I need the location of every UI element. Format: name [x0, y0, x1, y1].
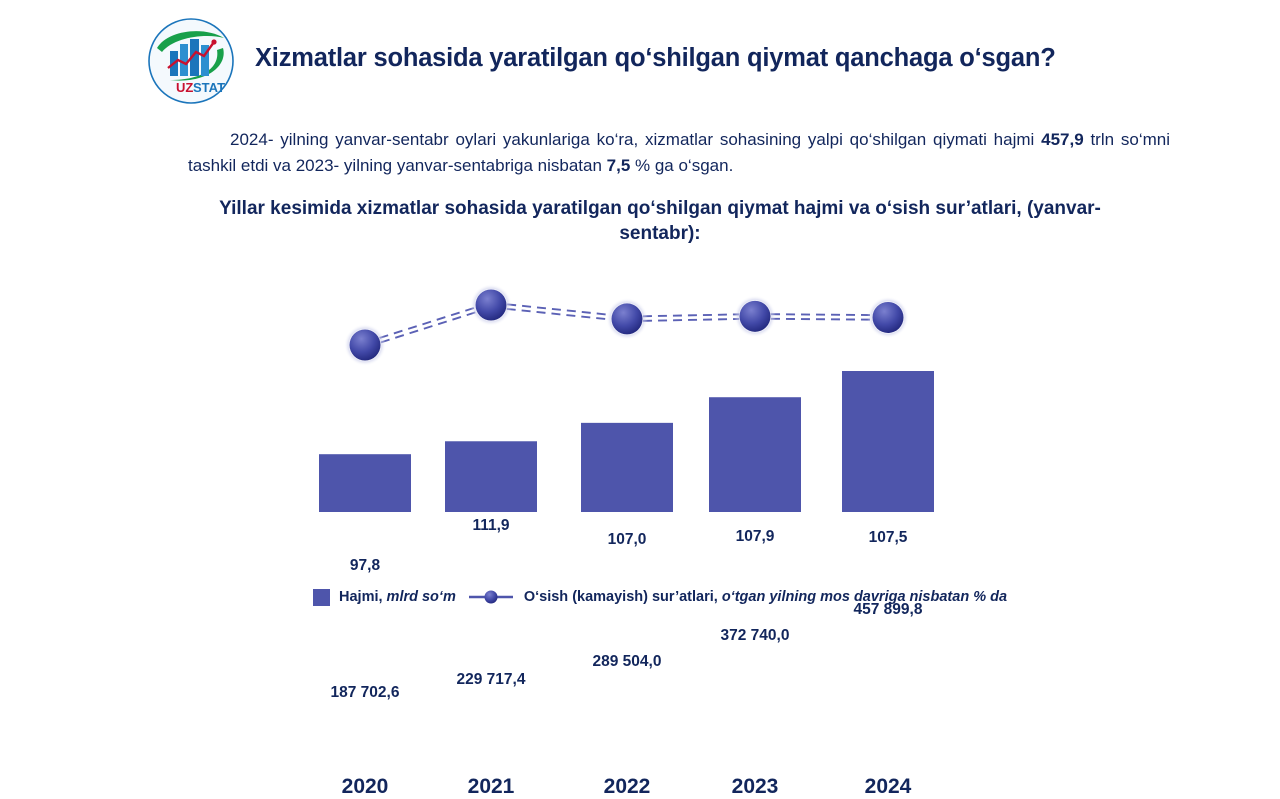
legend-bar-label: Hajmi, mlrd so‘m — [339, 589, 456, 605]
line-segment-2020-2021 — [380, 308, 476, 338]
line-segment-2022-2023 — [643, 319, 739, 321]
line-markers-group — [344, 284, 909, 366]
line-value-label-2022: 107,0 — [608, 531, 647, 549]
line-segment-2020-2021 — [381, 312, 477, 342]
category-label-2023: 2023 — [732, 775, 779, 799]
line-segment-2023-2024 — [771, 319, 872, 320]
line-value-label-2020: 97,8 — [350, 557, 380, 575]
line-value-label-2023: 107,9 — [736, 528, 775, 546]
chart-graphic — [0, 255, 1280, 625]
intro-value-volume: 457,9 — [1041, 130, 1084, 149]
bar-value-label-2023: 372 740,0 — [721, 627, 790, 645]
logo-bar-2 — [180, 44, 188, 76]
legend-line-swatch — [469, 588, 513, 606]
category-label-2020: 2020 — [342, 775, 389, 799]
legend-line-label: O‘sish (kamayish) sur’atlari, o‘tgan yil… — [524, 589, 1007, 605]
intro-paragraph: 2024- yilning yanvar-sentabr oylari yaku… — [188, 127, 1170, 179]
line-segment-2023-2024 — [771, 314, 872, 315]
legend-bar-swatch — [313, 589, 330, 606]
line-marker-2020[interactable] — [350, 330, 381, 361]
legend-bar-label-bold: Hajmi, — [339, 589, 383, 605]
chart-area: 187 702,62020229 717,42021289 504,020223… — [0, 255, 1280, 625]
legend-line-label-bold: O‘sish (kamayish) sur’atlari, — [524, 589, 718, 605]
line-marker-2022[interactable] — [612, 303, 643, 334]
logo-text-uz: UZ — [176, 80, 193, 95]
intro-text-part-3: % ga o‘sgan. — [630, 156, 733, 175]
bar-value-label-2020: 187 702,6 — [331, 684, 400, 702]
category-label-2022: 2022 — [604, 775, 651, 799]
bars-group — [319, 371, 934, 512]
logo-trend-dot — [211, 39, 216, 44]
bar-2024[interactable] — [842, 371, 934, 512]
bar-2021[interactable] — [445, 441, 537, 512]
header: UZ STAT Xizmatlar sohasida yaratilgan qo… — [0, 0, 1280, 108]
line-marker-2024[interactable] — [873, 302, 904, 333]
intro-value-growth: 7,5 — [607, 156, 631, 175]
chart-legend: Hajmi, mlrd so‘m O‘sish (kamayish) sur’a… — [313, 586, 1007, 608]
category-label-2021: 2021 — [468, 775, 515, 799]
page-title: Xizmatlar sohasida yaratilgan qo‘shilgan… — [255, 44, 1175, 73]
line-marker-2023[interactable] — [740, 301, 771, 332]
line-marker-2021[interactable] — [476, 290, 507, 321]
legend-line-label-italic: o‘tgan yilning mos davriga nisbatan % da — [722, 589, 1007, 605]
bar-2022[interactable] — [581, 423, 673, 512]
line-value-label-2024: 107,5 — [869, 529, 908, 547]
intro-text-part-1: 2024- yilning yanvar-sentabr oylari yaku… — [230, 130, 1041, 149]
category-label-2024: 2024 — [865, 775, 912, 799]
bar-value-label-2021: 229 717,4 — [457, 671, 526, 689]
bar-2023[interactable] — [709, 397, 801, 512]
legend-line-icon — [469, 588, 513, 606]
legend-bar-label-italic: mlrd so‘m — [387, 589, 456, 605]
line-segment-2022-2023 — [643, 314, 739, 316]
uzstat-logo-icon: UZ STAT — [148, 18, 234, 104]
bar-value-label-2022: 289 504,0 — [593, 653, 662, 671]
chart-subtitle: Yillar kesimida xizmatlar sohasida yarat… — [215, 196, 1105, 246]
legend-line-marker — [484, 591, 497, 604]
logo-text-stat: STAT — [193, 80, 225, 95]
bar-2020[interactable] — [319, 454, 411, 512]
line-value-label-2021: 111,9 — [472, 517, 509, 535]
uzstat-logo: UZ STAT — [148, 18, 234, 104]
